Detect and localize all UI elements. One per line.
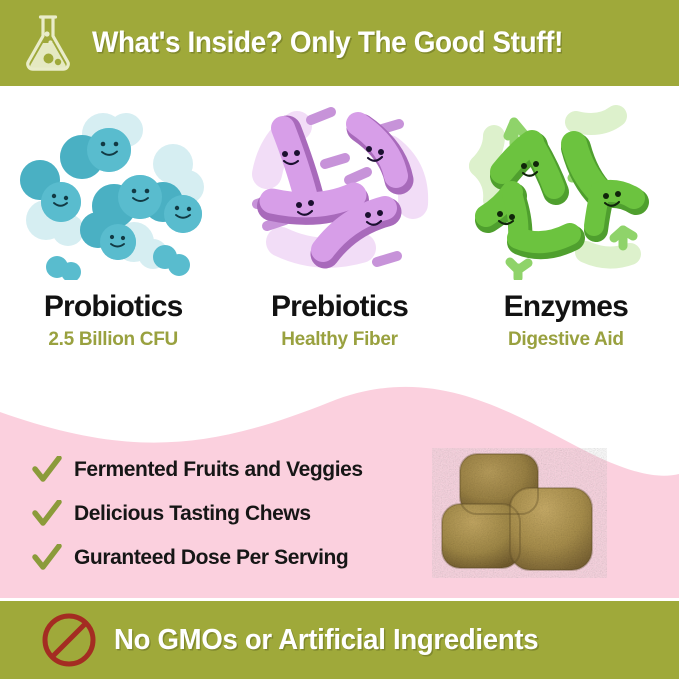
probiotic-characters-illustration — [13, 102, 213, 280]
column-subtitle: Digestive Aid — [508, 329, 624, 351]
header-banner: What's Inside? Only The Good Stuff! — [0, 0, 679, 86]
benefit-label: Fermented Fruits and Veggies — [74, 458, 363, 482]
benefit-item: Delicious Tasting Chews — [32, 500, 363, 528]
footer-title: No GMOs or Artificial Ingredients — [114, 624, 538, 657]
product-infographic: What's Inside? Only The Good Stuff! — [0, 0, 679, 679]
check-icon — [32, 544, 62, 572]
ingredient-column-probiotics: Probiotics 2.5 Billion CFU — [0, 86, 226, 396]
ingredient-column-prebiotics: Prebiotics Healthy Fiber — [226, 86, 452, 396]
ingredient-column-enzymes: Enzymes Digestive Aid — [453, 86, 679, 396]
check-icon — [32, 500, 62, 528]
benefit-item: Guranteed Dose Per Serving — [32, 544, 363, 572]
soft-chew-cubes-image — [432, 448, 622, 578]
column-title: Prebiotics — [271, 290, 408, 324]
benefit-label: Guranteed Dose Per Serving — [74, 546, 348, 570]
column-title: Enzymes — [504, 290, 628, 324]
benefit-item: Fermented Fruits and Veggies — [32, 456, 363, 484]
enzyme-characters-illustration — [466, 102, 666, 280]
ingredients-section: Probiotics 2.5 Billion CFU — [0, 86, 679, 396]
prebiotic-characters-illustration — [239, 102, 439, 280]
column-title: Probiotics — [44, 290, 183, 324]
benefit-label: Delicious Tasting Chews — [74, 502, 311, 526]
footer-banner: No GMOs or Artificial Ingredients — [0, 601, 679, 679]
header-title: What's Inside? Only The Good Stuff! — [92, 26, 563, 60]
benefits-list: Fermented Fruits and Veggies Delicious T… — [32, 456, 363, 572]
flask-icon — [18, 12, 78, 74]
column-subtitle: Healthy Fiber — [281, 329, 397, 351]
column-subtitle: 2.5 Billion CFU — [48, 329, 178, 351]
no-entry-icon — [40, 611, 98, 669]
benefits-section: Fermented Fruits and Veggies Delicious T… — [0, 440, 679, 598]
check-icon — [32, 456, 62, 484]
